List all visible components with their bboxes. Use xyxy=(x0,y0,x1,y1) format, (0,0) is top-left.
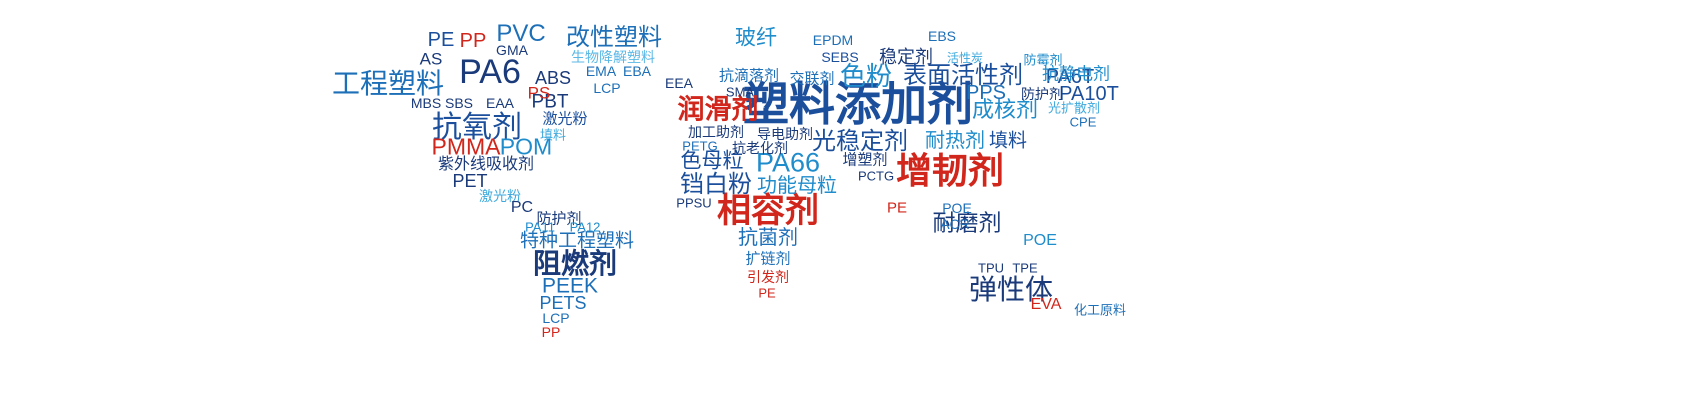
word-cloud-term[interactable]: 扩链剂 xyxy=(745,252,790,267)
word-cloud-term[interactable]: TPE xyxy=(1012,262,1037,275)
word-cloud-term[interactable]: LCP xyxy=(542,311,569,325)
word-cloud-term[interactable]: ACR xyxy=(940,217,970,231)
word-cloud-term[interactable]: SEBS xyxy=(821,50,858,64)
word-cloud-term[interactable]: 激光粉 xyxy=(542,112,587,127)
word-cloud-term[interactable]: SBS xyxy=(445,96,473,110)
word-cloud-term[interactable]: EAA xyxy=(486,96,514,110)
word-cloud-term[interactable]: POE xyxy=(942,201,972,215)
word-cloud-term[interactable]: TPU xyxy=(978,262,1004,275)
word-cloud-term[interactable]: 功能母粒 xyxy=(757,176,837,196)
word-cloud-term[interactable]: 相容剂 xyxy=(717,194,819,228)
word-cloud-term[interactable]: EBA xyxy=(623,64,651,78)
word-cloud-term[interactable]: PE xyxy=(887,201,907,216)
word-cloud-term[interactable]: PA11 xyxy=(525,221,555,234)
word-cloud-term[interactable]: 玻纤 xyxy=(735,28,777,49)
word-cloud-term[interactable]: 增韧剂 xyxy=(896,153,1004,189)
word-cloud-term[interactable]: 光稳定剂 xyxy=(812,130,908,154)
word-cloud-term[interactable]: PA6 xyxy=(459,55,521,89)
word-cloud-term[interactable]: SMA xyxy=(726,86,754,99)
word-cloud-term[interactable]: PA12 xyxy=(570,221,601,234)
word-cloud-term[interactable]: LCP xyxy=(593,81,620,95)
word-cloud-term[interactable]: 光扩散剂 xyxy=(1048,102,1100,115)
word-cloud-term[interactable]: 加工助剂 xyxy=(688,125,744,139)
word-cloud-term[interactable]: 改性塑料 xyxy=(566,26,662,50)
word-cloud-term[interactable]: 填料 xyxy=(540,129,566,142)
word-cloud-term[interactable]: 防护剂 xyxy=(1021,87,1063,101)
word-cloud-term[interactable]: 生物降解塑料 xyxy=(571,50,655,64)
word-cloud-term[interactable]: 抗静电剂 xyxy=(1042,66,1110,83)
word-cloud-term[interactable]: 引发剂 xyxy=(747,270,789,284)
word-cloud-term[interactable]: PPSU xyxy=(676,197,711,210)
word-cloud-term[interactable]: PETG xyxy=(682,140,717,153)
word-cloud-term[interactable]: 交联剂 xyxy=(789,72,834,87)
word-cloud-term[interactable]: 铛白粉 xyxy=(680,173,752,197)
word-cloud-term[interactable]: MBS xyxy=(411,96,441,110)
word-cloud-term[interactable]: 工程塑料 xyxy=(332,70,444,98)
word-cloud-term[interactable]: PS xyxy=(528,85,551,102)
word-cloud-term[interactable]: 防霉剂 xyxy=(1023,54,1062,67)
word-cloud-term[interactable]: 润滑剂 xyxy=(678,97,759,124)
word-cloud-term[interactable]: PP xyxy=(542,325,561,339)
word-cloud-term[interactable]: 抗菌剂 xyxy=(738,228,798,248)
word-cloud-term[interactable]: AS xyxy=(420,51,443,68)
word-cloud-term[interactable]: 化工原料 xyxy=(1074,304,1126,317)
word-cloud-term[interactable]: 耐热剂 xyxy=(925,131,985,151)
word-cloud-term[interactable]: PP xyxy=(460,31,487,51)
word-cloud-term[interactable]: EPDM xyxy=(813,33,853,47)
word-cloud-term[interactable]: 活性炭 xyxy=(947,52,983,64)
word-cloud-term[interactable]: EBS xyxy=(928,29,956,43)
word-cloud-term[interactable]: EEA xyxy=(665,76,693,90)
word-cloud-term[interactable]: EVA xyxy=(1031,297,1062,313)
word-cloud-term[interactable]: POE xyxy=(1023,233,1057,249)
word-cloud-term[interactable]: 填料 xyxy=(989,132,1027,151)
word-cloud-term[interactable]: CPE xyxy=(1070,116,1097,129)
word-cloud-term[interactable]: 抗滴落剂 xyxy=(719,69,779,84)
word-cloud-term[interactable]: PE xyxy=(428,30,455,50)
word-cloud-term[interactable]: PPS xyxy=(966,83,1006,103)
word-cloud-term[interactable]: 抗老化剂 xyxy=(732,141,788,155)
word-cloud-canvas: 塑料添加剂增韧剂相容剂润滑剂阻燃剂工程塑料抗氧剂PA6弹性体光稳定剂表面活性剂色… xyxy=(0,0,1707,400)
word-cloud-term[interactable]: 增塑剂 xyxy=(842,153,887,168)
word-cloud-term[interactable]: PCTG xyxy=(858,170,894,183)
word-cloud-term[interactable]: 导电助剂 xyxy=(757,127,813,141)
word-cloud-term[interactable]: PC xyxy=(511,200,533,216)
word-cloud-term[interactable]: PE xyxy=(758,287,775,300)
word-cloud-term[interactable]: 稳定剂 xyxy=(879,48,933,66)
word-cloud-term[interactable]: GMA xyxy=(496,43,528,57)
word-cloud-term[interactable]: EMA xyxy=(586,64,616,78)
